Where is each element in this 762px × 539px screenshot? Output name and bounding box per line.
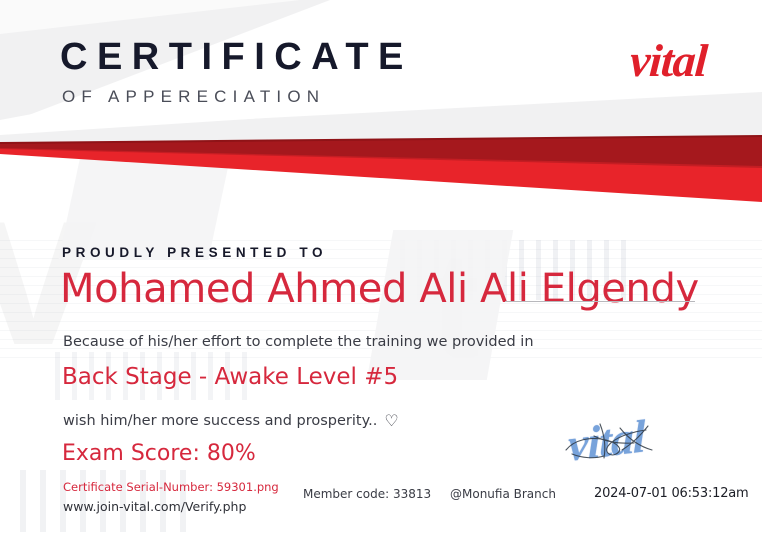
name-underline-rule — [505, 301, 695, 302]
recipient-name: Mohamed Ahmed Ali Ali Elgendy — [60, 266, 699, 312]
verify-url-link[interactable]: www.join-vital.com/Verify.php — [63, 499, 246, 514]
certificate-heading-group: CERTIFICATE OF APPERECIATION — [60, 38, 413, 105]
course-name: Back Stage - Awake Level #5 — [62, 364, 398, 390]
exam-score: Exam Score: 80% — [62, 441, 256, 466]
certificate-document: v t CERTIFICATE OF APPERECIATION vital P… — [0, 0, 762, 539]
presented-to-label: PROUDLY PRESENTED TO — [62, 245, 327, 260]
reason-text: Because of his/her effort to complete th… — [63, 334, 534, 350]
branch-name: @Monufia Branch — [450, 487, 556, 501]
page-subtitle: OF APPERECIATION — [62, 88, 413, 105]
certificate-serial-number: Certificate Serial-Number: 59301.png — [63, 480, 279, 494]
wish-text-group: wish him/her more success and prosperity… — [63, 411, 399, 430]
signature-stamp: vital — [560, 410, 725, 490]
handwritten-signature-icon — [560, 410, 725, 480]
page-title: CERTIFICATE — [60, 38, 413, 76]
member-code: Member code: 33813 — [303, 487, 431, 501]
wish-text: wish him/her more success and prosperity… — [63, 413, 377, 429]
vital-logo: vital — [629, 38, 709, 84]
heart-icon: ♡ — [384, 411, 398, 430]
